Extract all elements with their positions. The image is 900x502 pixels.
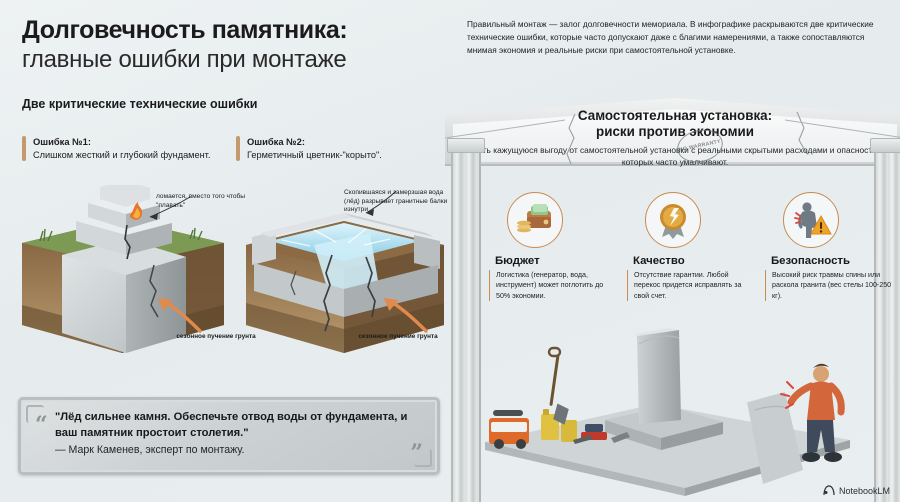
- notebooklm-logo-icon: [823, 485, 835, 496]
- diy-installation-scene-svg: [455, 292, 900, 502]
- risk-card-safety: Безопасность Высокий риск травмы спины и…: [765, 192, 893, 301]
- risk-title-safety: Безопасность: [765, 255, 893, 267]
- risk-card-quality: Качество Отсутствие гарантии. Любой пере…: [627, 192, 755, 301]
- right-column: Правильный монтаж — залог долговечности …: [455, 0, 900, 502]
- page-title: Долговечность памятника:: [22, 16, 441, 45]
- footer-brand-label: NotebookLM: [839, 486, 890, 496]
- quote-open-icon: “: [35, 414, 48, 436]
- panel-title-line1: Самостоятельная установка:: [445, 108, 900, 124]
- error-1-text: Ошибка №1: Слишком жесткий и глубокий фу…: [33, 136, 210, 161]
- accent-bar: [22, 136, 26, 161]
- expert-quote-box: “ ” "Лёд сильнее камня. Обеспечьте отвод…: [18, 397, 440, 475]
- callout-error-2: Скопившаяся и замерзшая вода (лёд) разры…: [344, 189, 456, 215]
- panel-title-line2: риски против экономии: [445, 124, 900, 140]
- errors-row: Ошибка №1: Слишком жесткий и глубокий фу…: [22, 136, 447, 161]
- quote-author: — Марк Каменев, эксперт по монтажу.: [55, 444, 411, 456]
- callout-error-1: ломается, вместо того чтобы "плавать": [156, 193, 256, 210]
- risk-title-quality: Качество: [627, 255, 755, 267]
- error-1-body: Слишком жесткий и глубокий фундамент.: [33, 150, 210, 160]
- footer-brand: NotebookLM: [823, 485, 890, 496]
- back-injury-warning-icon: [783, 192, 839, 248]
- risk-title-budget: Бюджет: [489, 255, 617, 267]
- error-2-title: Ошибка №2:: [247, 136, 382, 149]
- error-2-text: Ошибка №2: Герметичный цветник-"корыто".: [247, 136, 382, 161]
- intro-paragraph: Правильный монтаж — залог долговечности …: [467, 18, 885, 57]
- wallet-coins-icon: [507, 192, 563, 248]
- quote-close-icon: ”: [410, 442, 423, 464]
- page-subtitle: главные ошибки при монтаже: [22, 46, 441, 74]
- ground-heave-label-1: сезонное пучение грунта: [172, 333, 260, 341]
- error-card-2: Ошибка №2: Герметичный цветник-"корыто".: [236, 136, 436, 161]
- no-warranty-stamp-text: NO WARRANTY: [679, 139, 722, 154]
- panel-subtitle: Сравнить кажущуюся выгоду от самостоятел…: [445, 144, 900, 168]
- error-2-body: Герметичный цветник-"корыто".: [247, 150, 382, 160]
- risk-cards-row: Бюджет Логистика (генератор, вода, инстр…: [489, 192, 893, 301]
- illustrations: ломается, вместо того чтобы "плавать" Ск…: [14, 185, 454, 385]
- error-card-1: Ошибка №1: Слишком жесткий и глубокий фу…: [22, 136, 222, 161]
- quote-text: "Лёд сильнее камня. Обеспечьте отвод вод…: [55, 410, 411, 442]
- risk-card-budget: Бюджет Логистика (генератор, вода, инстр…: [489, 192, 617, 301]
- error-1-title: Ошибка №1:: [33, 136, 210, 149]
- illustration-sealed-trough: [246, 191, 444, 353]
- temple-pediment: Самостоятельная установка: риски против …: [445, 98, 900, 166]
- broken-award-medal-icon: [645, 192, 701, 248]
- pediment-text: Самостоятельная установка: риски против …: [445, 108, 900, 168]
- ground-heave-label-2: сезонное пучение грунта: [354, 333, 442, 341]
- section-heading: Две критические технические ошибки: [22, 97, 441, 111]
- accent-bar: [236, 136, 240, 161]
